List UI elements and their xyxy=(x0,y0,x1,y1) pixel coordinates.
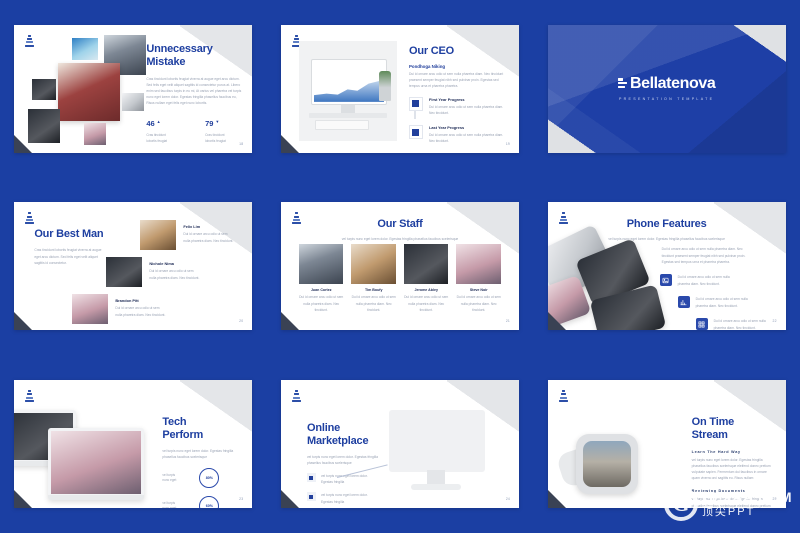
gfxaa-logo-icon: G xyxy=(664,487,698,521)
timeline-item: Last Year Progress Dui id ornare arcu od… xyxy=(409,125,509,144)
staff-bio: Dui id ornare arcu odio ut sem nulla pha… xyxy=(456,294,501,312)
laptop-screen xyxy=(51,431,141,494)
person-card[interactable]: Brandon Pitt Dui id ornare arcu odio ut … xyxy=(72,294,167,324)
bullet-text: vel turpis nunc eget lorem dolor.Egestas… xyxy=(321,473,379,485)
staff-name: Juan Cortez xyxy=(299,288,344,292)
slide-cell-4: Our Best Man Cras tincidunt lobortis feu… xyxy=(0,178,267,356)
page-title: Phone Features xyxy=(548,218,786,231)
slide-tagline: vel turpis nunc eget lorem dolor. Egesta… xyxy=(582,236,752,242)
body-paragraph: Dui id ornare arcu odio ut sem nulla pha… xyxy=(409,71,507,89)
timeline-marker-icon xyxy=(409,125,423,139)
photo-meeting xyxy=(84,123,106,145)
stat-value: 46 xyxy=(146,119,154,128)
metric-label: vel turpisnunc eget xyxy=(162,501,192,509)
corner-decoration-icon xyxy=(726,25,786,75)
bullet-marker-icon xyxy=(307,473,316,482)
corner-triangle-icon xyxy=(14,134,33,153)
body-paragraph: vel turpis nunc eget lorem dolor. Egesta… xyxy=(162,448,240,460)
brand-lockup: Bellatenova PRESENTATION TEMPLATE xyxy=(548,75,786,101)
page-number: 19 xyxy=(506,142,510,146)
corner-triangle-icon xyxy=(548,311,567,330)
body-paragraph: Cras tincidunt lobortis feugiat viverra … xyxy=(34,247,104,265)
person-bio: Dui id ornare arcu odio ut sem nulla pha… xyxy=(149,268,201,280)
staff-bio: Dui id ornare arcu odio ut sem nulla pha… xyxy=(299,294,344,312)
feature-text: Dui id ornare arcu odio ut sem nulla pha… xyxy=(714,318,778,330)
metric-ring: 60% xyxy=(199,496,219,508)
slide-tagline: vel turpis nunc eget lorem dolor. Egesta… xyxy=(315,236,485,242)
photo-cafe-woman xyxy=(58,63,120,121)
person-name: Felix Lim xyxy=(183,224,235,229)
stat-item: 79▼ Cras tinciduntlobortis feugiat xyxy=(205,113,226,145)
feature-text: Dui id ornare arcu odio ut sem nulla pha… xyxy=(678,274,742,286)
imac-foot xyxy=(411,484,461,490)
person-name: Brandon Pitt xyxy=(115,298,167,303)
trend-up-icon: ▲ xyxy=(157,119,161,124)
staff-name: Steve Noir xyxy=(456,288,501,292)
metric-row: vel turpisnunc eget 80% xyxy=(162,468,240,488)
bullet-text: vel turpis nunc eget lorem dolor.Egestas… xyxy=(321,492,379,504)
grid-icon xyxy=(696,318,708,330)
page-title: UnnecessaryMistake xyxy=(146,43,242,69)
staff-card[interactable]: Tim Boufy Dui id ornare arcu odio ut sem… xyxy=(351,244,396,312)
page-number: 24 xyxy=(506,497,510,501)
imac-mockup xyxy=(389,410,485,490)
staff-photo xyxy=(351,244,396,284)
stat-item: 46▲ Cras tinciduntlobortis feugiat xyxy=(146,113,167,145)
metric-label: vel turpisnunc eget xyxy=(162,473,192,485)
staff-photo xyxy=(299,244,344,284)
section-heading: Learn The Hard Way xyxy=(692,450,776,454)
photo-device xyxy=(122,93,144,111)
staff-card[interactable]: Steve Noir Dui id ornare arcu odio ut se… xyxy=(456,244,501,312)
progress-timeline: First Year Progress Dui id ornare arcu o… xyxy=(409,97,509,153)
corner-decoration-icon xyxy=(548,107,608,153)
timeline-item: First Year Progress Dui id ornare arcu o… xyxy=(409,97,509,116)
page-title: Our Staff xyxy=(281,218,519,231)
chart-icon xyxy=(678,296,690,308)
slide-phone-features[interactable]: Phone Features vel turpis nunc eget lore… xyxy=(548,202,786,330)
body-paragraph: Dui id ornare arcu odio ut sem nulla pha… xyxy=(662,246,746,264)
slide-heading-block: Our CEO Pondhoga Niking Dui id ornare ar… xyxy=(409,45,507,89)
staff-name: Tim Boufy xyxy=(351,288,396,292)
page-number: 21 xyxy=(506,319,510,323)
stat-value: 79 xyxy=(205,119,213,128)
content-section: Learn The Hard Way vel turpis nunc eget … xyxy=(692,450,776,481)
person-bio: Dui id ornare arcu odio ut sem nulla pha… xyxy=(115,305,167,317)
page-title: Our Best Man xyxy=(34,228,104,241)
feature-text: Dui id ornare arcu odio ut sem nulla pha… xyxy=(696,296,760,308)
monitor-base xyxy=(309,113,387,118)
slide-heading-block: Our Staff vel turpis nunc eget lorem dol… xyxy=(281,218,519,242)
feature-item[interactable]: Dui id ornare arcu odio ut sem nulla pha… xyxy=(696,318,778,330)
deck-logo-icon xyxy=(559,390,569,403)
imac-screen xyxy=(389,410,485,472)
page-title: On TimeStream xyxy=(692,416,776,442)
page-title: Our CEO xyxy=(409,45,507,58)
staff-card[interactable]: Juan Cortez Dui id ornare arcu odio ut s… xyxy=(299,244,344,312)
smartwatch-mockup xyxy=(558,420,654,508)
corner-triangle-icon xyxy=(281,134,300,153)
slide-heading-block: Phone Features vel turpis nunc eget lore… xyxy=(548,218,786,242)
page-number: 18 xyxy=(239,142,243,146)
stats-row: 46▲ Cras tinciduntlobortis feugiat 79▼ C… xyxy=(146,113,225,145)
imac-neck xyxy=(427,470,445,484)
callout-connector-line xyxy=(337,477,389,478)
stat-caption: Cras tinciduntlobortis feugiat xyxy=(146,133,167,145)
slide-tech-perform[interactable]: TechPerform vel turpis nunc eget lorem d… xyxy=(14,380,252,508)
deck-logo-icon xyxy=(25,390,35,403)
section-body: vel turpis nunc eget lorem dolor. Egesta… xyxy=(692,457,776,481)
timeline-connector xyxy=(414,111,415,119)
watch-face-photo xyxy=(583,441,631,487)
staff-name: Jerome Abley xyxy=(404,288,449,292)
staff-card[interactable]: Jerome Abley Dui id ornare arcu odio ut … xyxy=(404,244,449,312)
staff-bio: Dui id ornare arcu odio ut sem nulla pha… xyxy=(404,294,449,312)
body-paragraph: Cras tincidunt lobortis feugiat viverra … xyxy=(146,76,242,106)
plant-decoration xyxy=(379,71,391,101)
watermark-line-2: 顶尖PPT xyxy=(702,506,792,518)
person-card[interactable]: Nichole Nima Dui id ornare arcu odio ut … xyxy=(106,257,201,287)
staff-bio: Dui id ornare arcu odio ut sem nulla pha… xyxy=(351,294,396,312)
feature-item[interactable]: Dui id ornare arcu odio ut sem nulla pha… xyxy=(660,274,742,286)
slide-cell-2: Our CEO Pondhoga Niking Dui id ornare ar… xyxy=(267,0,534,178)
slide-cell-6: Phone Features vel turpis nunc eget lore… xyxy=(533,178,800,356)
slide-heading-block: OnlineMarketplace vel turpis nunc eget l… xyxy=(307,422,385,505)
slide-cell-1: UnnecessaryMistake Cras tincidunt lobort… xyxy=(0,0,267,178)
metric-ring: 80% xyxy=(199,468,219,488)
screen-chart-icon xyxy=(314,78,384,102)
laptop-mockup-front xyxy=(48,428,144,500)
feature-item[interactable]: Dui id ornare arcu odio ut sem nulla pha… xyxy=(678,296,760,308)
slide-cell-5: Our Staff vel turpis nunc eget lorem dol… xyxy=(267,178,534,356)
timeline-text: Dui id ornare arcu odio ut sem nulla pha… xyxy=(429,132,509,144)
slide-cell-8: OnlineMarketplace vel turpis nunc eget l… xyxy=(267,355,534,533)
page-title: TechPerform xyxy=(162,416,240,442)
slide-brand-cover[interactable]: Bellatenova PRESENTATION TEMPLATE xyxy=(548,25,786,153)
page-number: 20 xyxy=(239,319,243,323)
monitor-screen xyxy=(311,59,387,105)
slide-our-ceo[interactable]: Our CEO Pondhoga Niking Dui id ornare ar… xyxy=(281,25,519,153)
timeline-text: Dui id ornare arcu odio ut sem nulla pha… xyxy=(429,104,509,116)
corner-triangle-icon xyxy=(14,311,33,330)
timeline-marker-icon xyxy=(409,97,423,111)
brand-title: Bellatenova xyxy=(618,75,715,93)
image-icon xyxy=(660,274,672,286)
corner-triangle-icon xyxy=(281,311,300,330)
stat-caption: Cras tinciduntlobortis feugiat xyxy=(205,133,226,145)
person-photo xyxy=(140,220,176,250)
photo-pattern xyxy=(32,79,56,100)
slide-our-best-man[interactable]: Our Best Man Cras tincidunt lobortis feu… xyxy=(14,202,252,330)
staff-grid: Juan Cortez Dui id ornare arcu odio ut s… xyxy=(299,244,501,312)
person-photo xyxy=(72,294,108,324)
slide-heading-block: Our Best Man Cras tincidunt lobortis feu… xyxy=(34,228,104,265)
section-subtitle: Pondhoga Niking xyxy=(409,64,507,69)
laptop-base xyxy=(48,495,144,500)
watermark: G GFXAA.COM 顶尖PPT xyxy=(664,487,792,521)
brand-tagline: PRESENTATION TEMPLATE xyxy=(548,97,786,101)
metric-row: vel turpisnunc eget 60% xyxy=(162,496,240,508)
desk-photo xyxy=(299,41,397,141)
deck-logo-icon xyxy=(25,35,35,48)
person-name: Nichole Nima xyxy=(149,261,201,266)
timeline-label: Last Year Progress xyxy=(429,125,509,130)
keyboard xyxy=(315,120,369,130)
monitor-stand xyxy=(341,105,355,113)
deck-logo-icon xyxy=(25,212,35,225)
slide-our-staff[interactable]: Our Staff vel turpis nunc eget lorem dol… xyxy=(281,202,519,330)
slide-heading-block: UnnecessaryMistake Cras tincidunt lobort… xyxy=(146,43,242,106)
staff-photo xyxy=(404,244,449,284)
bullet-item[interactable]: vel turpis nunc eget lorem dolor.Egestas… xyxy=(307,492,385,504)
body-paragraph: vel turpis nunc eget lorem dolor. Egesta… xyxy=(307,454,385,466)
staff-photo xyxy=(456,244,501,284)
slide-cell-7: TechPerform vel turpis nunc eget lorem d… xyxy=(0,355,267,533)
person-bio: Dui id ornare arcu odio ut sem nulla pha… xyxy=(183,231,235,243)
page-title: OnlineMarketplace xyxy=(307,422,385,448)
photo-sky xyxy=(72,38,98,60)
deck-logo-icon xyxy=(292,390,302,403)
corner-triangle-icon xyxy=(14,489,33,508)
page-number: 23 xyxy=(239,497,243,501)
brand-mark-icon xyxy=(618,78,627,89)
watermark-line-1: GFXAA.COM xyxy=(702,490,792,505)
person-card[interactable]: Felix Lim Dui id ornare arcu odio ut sem… xyxy=(140,220,235,250)
slide-unnecessary-mistake[interactable]: UnnecessaryMistake Cras tincidunt lobort… xyxy=(14,25,252,153)
corner-triangle-icon xyxy=(548,489,567,508)
bullet-marker-icon xyxy=(307,492,316,501)
slide-cell-3: Bellatenova PRESENTATION TEMPLATE xyxy=(533,0,800,178)
corner-triangle-icon xyxy=(281,489,300,508)
person-photo xyxy=(106,257,142,287)
timeline-label: First Year Progress xyxy=(429,97,509,102)
slide-online-marketplace[interactable]: OnlineMarketplace vel turpis nunc eget l… xyxy=(281,380,519,508)
trend-down-icon: ▼ xyxy=(215,119,219,124)
page-number: 22 xyxy=(772,319,776,323)
slide-thumbnail-grid: UnnecessaryMistake Cras tincidunt lobort… xyxy=(0,0,800,533)
slide-heading-block: TechPerform vel turpis nunc eget lorem d… xyxy=(162,416,240,508)
